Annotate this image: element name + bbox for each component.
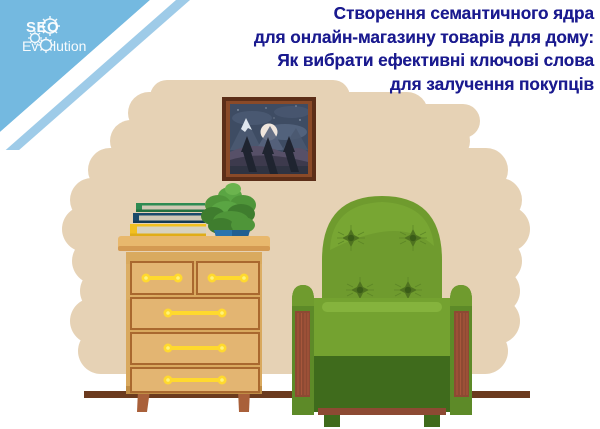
armchair-foot-right (424, 415, 440, 427)
armchair-base (314, 356, 450, 412)
dresser-drawer-row-3[interactable] (131, 333, 259, 364)
armchair-base-rail (318, 408, 446, 415)
wooden-dresser[interactable] (118, 236, 270, 412)
wall-picture-frame[interactable] (222, 97, 316, 181)
dresser-drawer-row-2[interactable] (131, 298, 259, 329)
dresser-drawer-row-4[interactable] (131, 368, 259, 392)
headline-line-1: Створення семантичного ядра (164, 2, 594, 26)
poster-headline: Створення семантичного ядра для онлайн-м… (164, 2, 594, 96)
armchair-seat-cushion-edge (322, 302, 442, 312)
armchair-foot-left (324, 415, 340, 427)
headline-line-4: для залучення покупців (164, 73, 594, 97)
book-stack[interactable] (130, 203, 206, 236)
poster-canvas: SEO Ev lution Створення семантичного ядр… (0, 0, 600, 429)
headline-line-3: Як вибрати ефективні ключові слова (164, 49, 594, 73)
picture-artwork (230, 104, 310, 174)
headline-line-2: для онлайн-магазину товарів для дому: (164, 26, 594, 50)
